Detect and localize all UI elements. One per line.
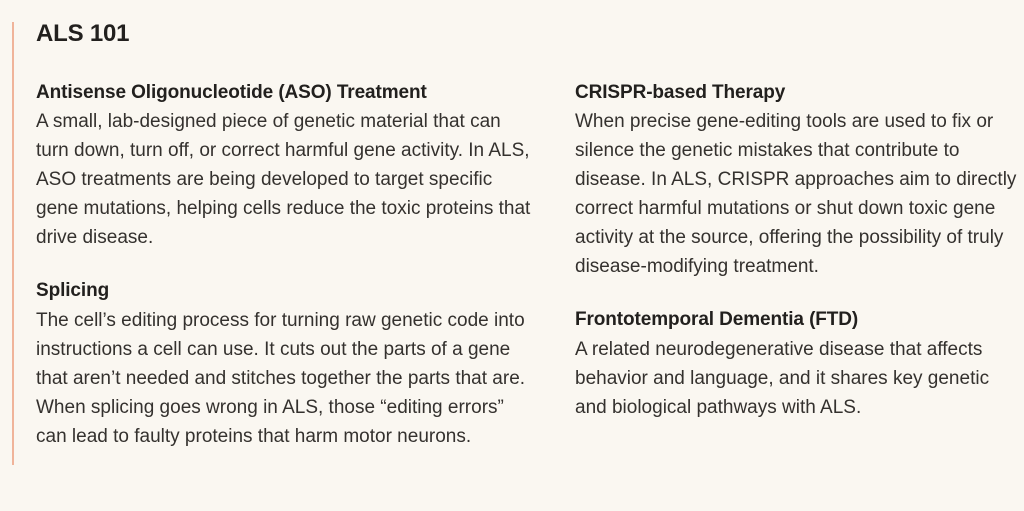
glossary-term: Splicing [36,277,536,305]
glossary-entry: Antisense Oligonucleotide (ASO) Treatmen… [36,79,536,253]
glossary-term: CRISPR-based Therapy [575,79,1024,107]
glossary-definition: A small, lab-designed piece of genetic m… [36,107,536,252]
page-title: ALS 101 [36,20,1024,49]
glossary-column-left: Antisense Oligonucleotide (ASO) Treatmen… [36,79,536,451]
glossary-definition: A related neurodegenerative disease that… [575,335,1024,422]
glossary-entry: CRISPR-based Therapy When precise gene-e… [575,79,1024,282]
panel-content: ALS 101 Antisense Oligonucleotide (ASO) … [36,20,1024,511]
left-accent-rule [12,22,14,465]
glossary-term: Frontotemporal Dementia (FTD) [575,306,1024,334]
glossary-definition: When precise gene-editing tools are used… [575,107,1024,281]
glossary-entry: Frontotemporal Dementia (FTD) A related … [575,306,1024,422]
als-101-panel: ALS 101 Antisense Oligonucleotide (ASO) … [0,0,1024,511]
glossary-term: Antisense Oligonucleotide (ASO) Treatmen… [36,79,536,107]
glossary-definition: The cell’s editing process for turning r… [36,306,536,451]
glossary-column-right: CRISPR-based Therapy When precise gene-e… [575,79,1024,422]
glossary-columns: Antisense Oligonucleotide (ASO) Treatmen… [36,79,1024,451]
glossary-entry: Splicing The cell’s editing process for … [36,277,536,451]
